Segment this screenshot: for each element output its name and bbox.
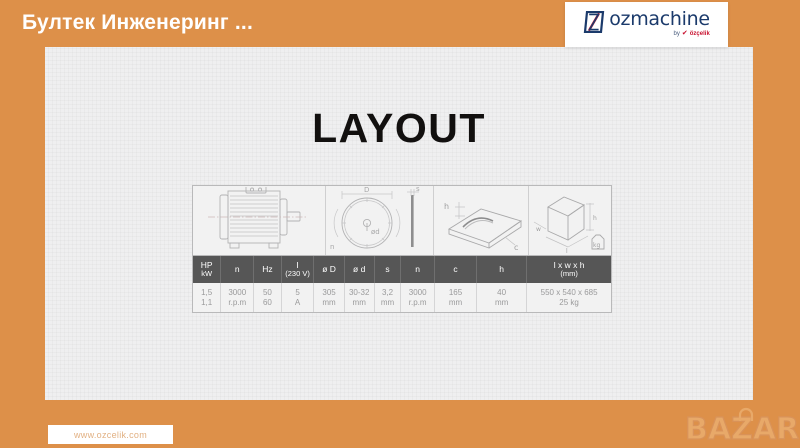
- slide-page-background: Бултек Инженеринг ... ozmachine by ✔ özç…: [0, 0, 800, 448]
- table-header-row: HP kW n Hz I (230 V) ø D ø d: [193, 256, 611, 283]
- svg-text:kg: kg: [593, 242, 600, 249]
- ozcelik-check-icon: ✔: [682, 30, 688, 38]
- svg-text:w: w: [536, 226, 541, 233]
- svg-text:ød: ød: [371, 228, 380, 236]
- slide-title: LAYOUT: [45, 105, 753, 152]
- svg-text:h: h: [444, 202, 449, 211]
- column-header-dimensions: l x w x h (mm): [527, 256, 611, 283]
- column-header-h: h: [477, 256, 527, 283]
- technical-drawings-row: D ød n s: [193, 186, 611, 256]
- electric-motor-drawing: [193, 186, 326, 255]
- svg-text:l: l: [566, 248, 568, 255]
- column-header-hz: Hz: [254, 256, 281, 283]
- svg-text:BAZAR: BAZAR: [685, 412, 799, 447]
- cell-diameter-d-lower: 30-32 mm: [345, 283, 375, 312]
- column-header-c: c: [435, 256, 477, 283]
- table-row: 1,5 1,1 3000 r.p.m 50 60 5 A 305 mm: [193, 283, 611, 312]
- cell-current: 5 A: [282, 283, 315, 312]
- cell-hp-kw: 1,5 1,1: [193, 283, 221, 312]
- page-title: Бултек Инженеринг ...: [22, 11, 253, 35]
- cell-c: 165 mm: [435, 283, 477, 312]
- bazar-watermark: BAZAR: [683, 399, 800, 448]
- logo-byline: by ✔ özçelik: [674, 30, 710, 38]
- cell-n-motor: 3000 r.p.m: [221, 283, 254, 312]
- column-header-n-spindle: n: [401, 256, 435, 283]
- cell-dimensions: 550 x 540 x 685 25 kg: [527, 283, 611, 312]
- footer-url-text: www.ozcelik.com: [74, 430, 147, 440]
- column-header-diameter-d-upper: ø D: [314, 256, 344, 283]
- column-header-hp-kw: HP kW: [193, 256, 221, 283]
- svg-text:n: n: [330, 243, 334, 251]
- column-header-thickness-s: s: [375, 256, 402, 283]
- footer-website-url[interactable]: www.ozcelik.com: [48, 425, 173, 444]
- svg-text:D: D: [364, 187, 369, 194]
- cell-n-spindle: 3000 r.p.m: [401, 283, 435, 312]
- packaging-box-drawing: h w l kg: [529, 186, 611, 255]
- ozmachine-logo-card: ozmachine by ✔ özçelik: [565, 2, 728, 47]
- cell-h: 40 mm: [477, 283, 527, 312]
- slide-canvas: LAYOUT: [45, 47, 753, 400]
- svg-text:s: s: [416, 187, 420, 193]
- svg-text:h: h: [593, 215, 597, 222]
- logo-brand-name: özçelik: [690, 30, 710, 38]
- logo-wordmark: ozmachine: [609, 10, 710, 29]
- column-header-current: I (230 V): [282, 256, 315, 283]
- cell-hz: 50 60: [254, 283, 281, 312]
- oz-parallelogram-icon: [583, 11, 605, 33]
- column-header-n-motor: n: [221, 256, 254, 283]
- saw-blade-diagram: D ød n s: [326, 186, 434, 255]
- logo-by-label: by: [674, 30, 680, 38]
- column-header-diameter-d-lower: ø d: [345, 256, 375, 283]
- specification-table: D ød n s: [192, 185, 612, 313]
- cell-thickness-s: 3,2 mm: [375, 283, 402, 312]
- grinding-table-drawing: h c: [434, 186, 529, 255]
- svg-text:c: c: [514, 243, 518, 252]
- cell-diameter-d-upper: 305 mm: [314, 283, 344, 312]
